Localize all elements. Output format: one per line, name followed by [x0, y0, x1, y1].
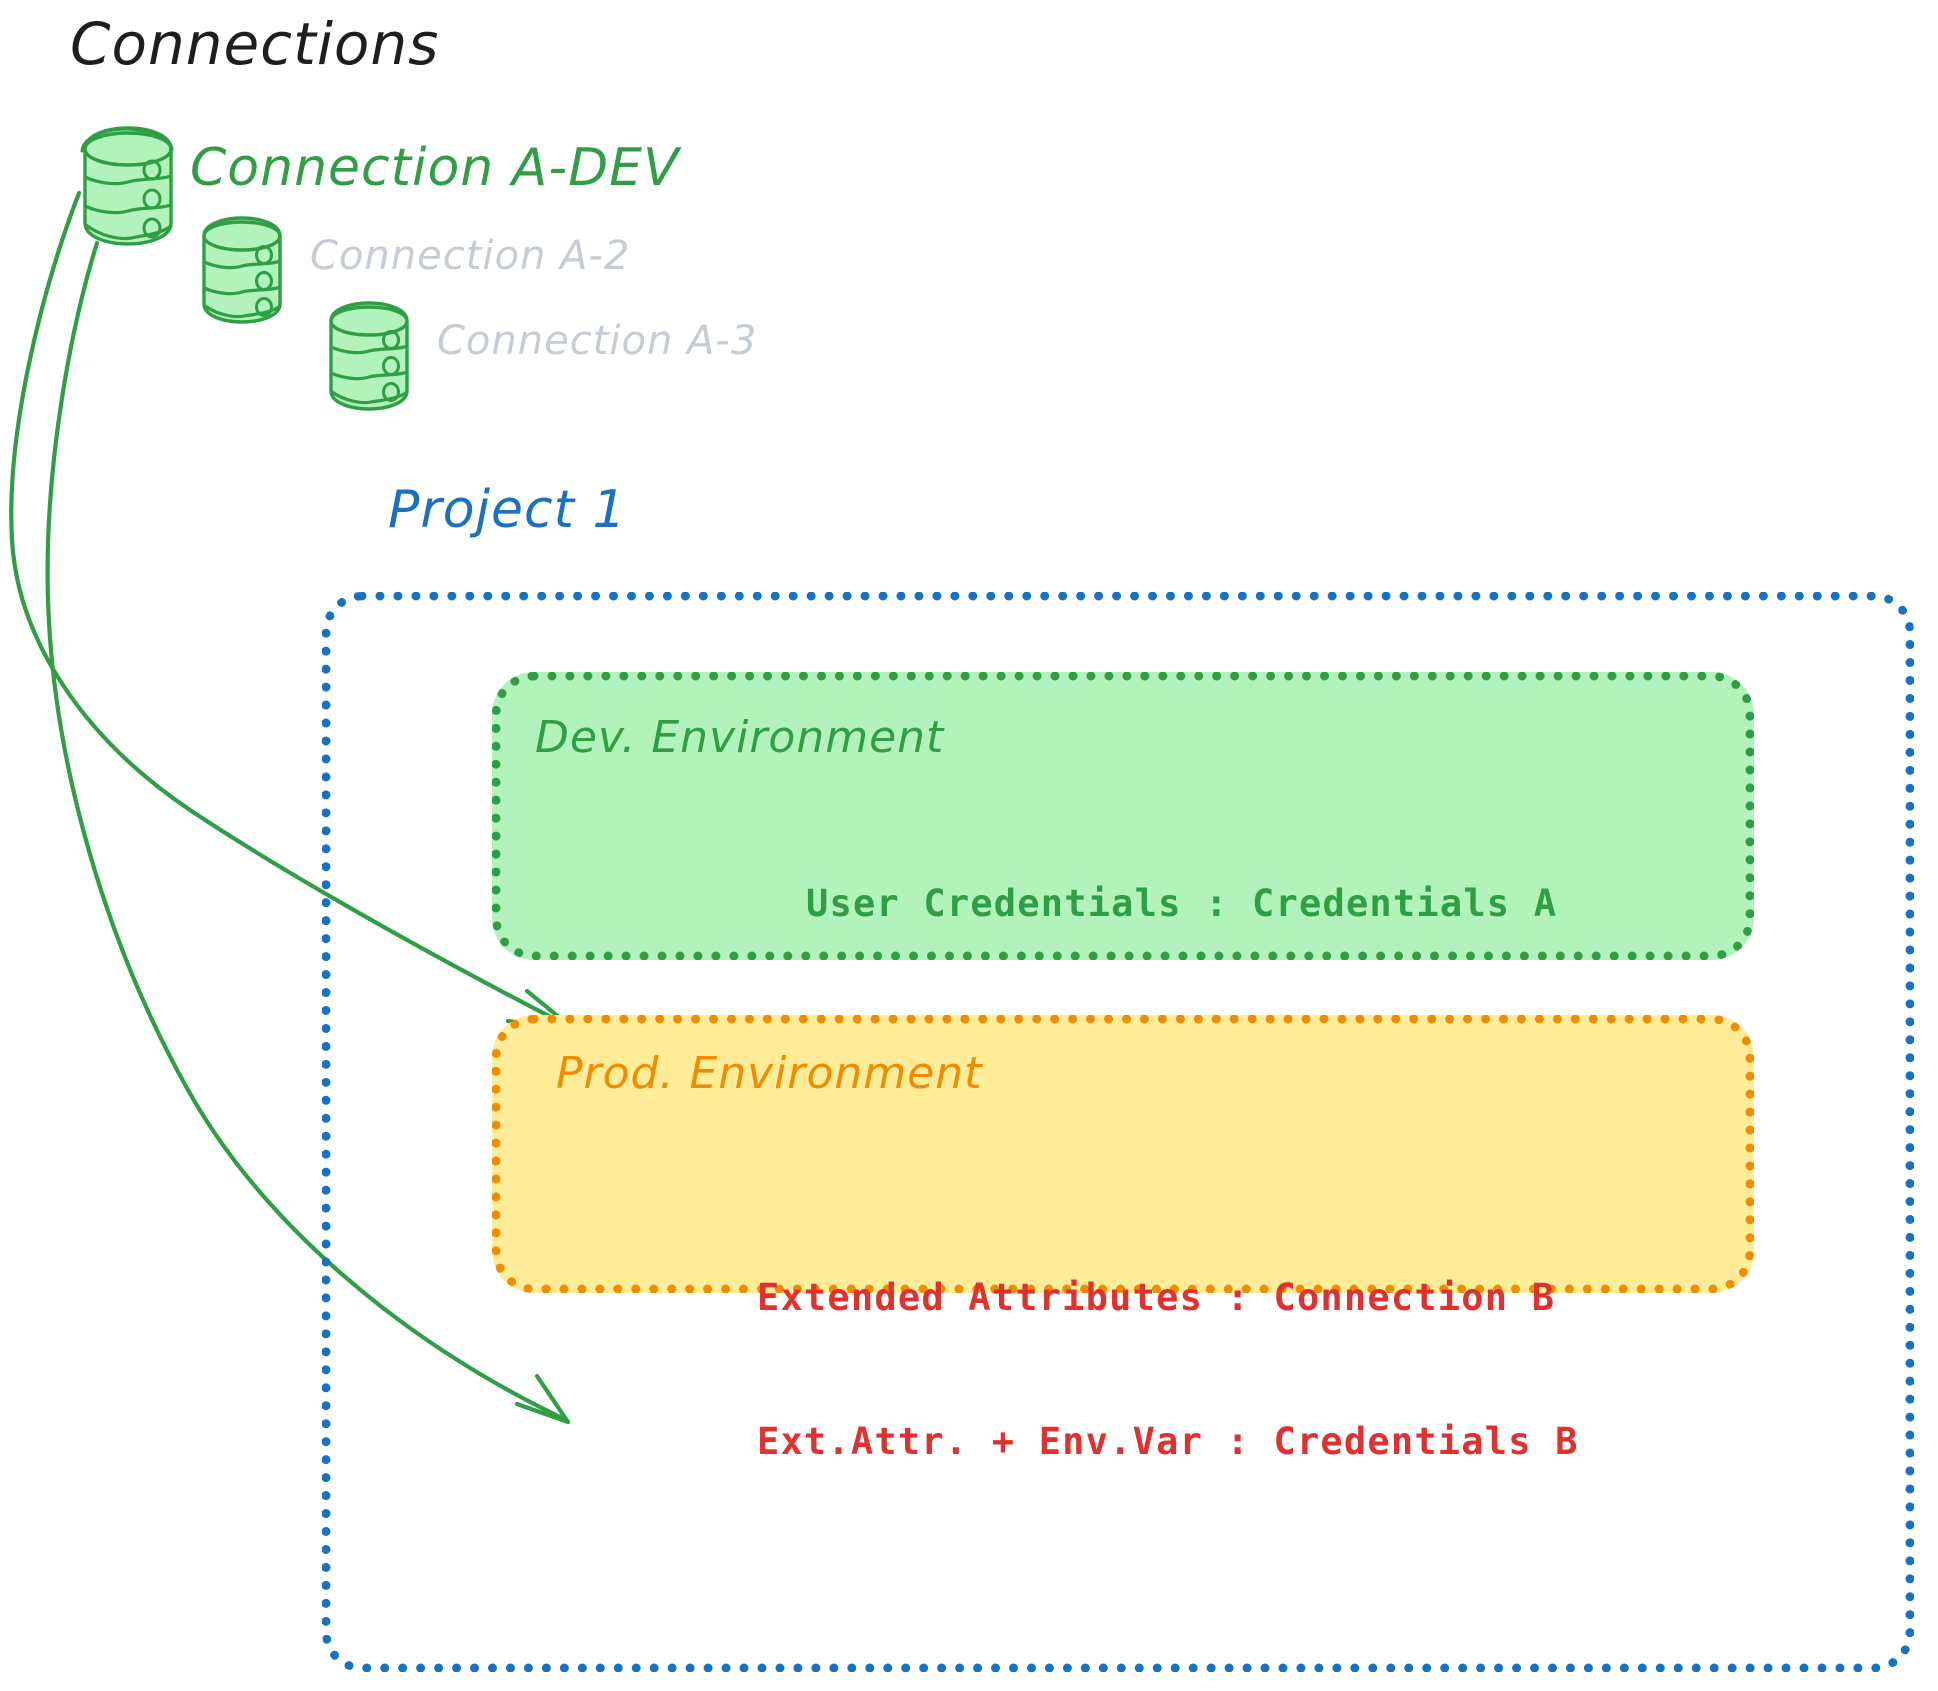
database-icon-connection-a-3[interactable] — [330, 302, 407, 409]
diagram-canvas: Connections — [0, 0, 1938, 1691]
prod-environment-row-extended-attributes: Extended Attributes : Connection B — [757, 1274, 1579, 1322]
prod-environment-row-ext-attr-env-var: Ext.Attr. + Env.Var : Credentials B — [757, 1418, 1579, 1466]
connection-label-a-dev[interactable]: Connection A-DEV — [190, 138, 680, 198]
connection-label-a-3[interactable]: Connection A-3 — [437, 318, 757, 364]
project-title: Project 1 — [388, 480, 627, 540]
database-icon-connection-a-2[interactable] — [203, 217, 280, 322]
dev-environment-title: Dev. Environment — [535, 712, 944, 763]
database-icon-connection-a-dev[interactable] — [82, 127, 172, 244]
prod-environment-title: Prod. Environment — [556, 1048, 982, 1099]
connection-label-a-2[interactable]: Connection A-2 — [310, 233, 630, 279]
page-title: Connections — [70, 10, 439, 78]
dev-environment-credentials-row: User Credentials : Credentials A — [806, 882, 1557, 925]
prod-environment-rows: Extended Attributes : Connection B Ext.A… — [757, 1178, 1579, 1562]
